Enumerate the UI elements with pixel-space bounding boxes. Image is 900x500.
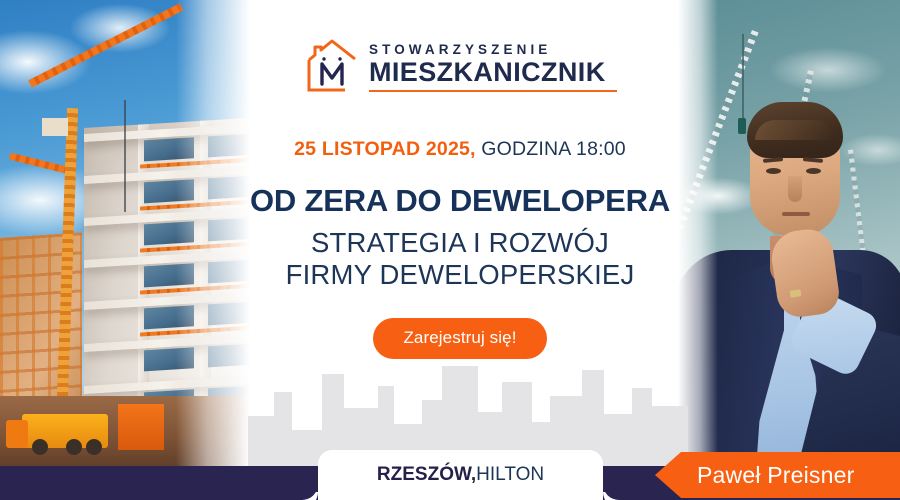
location-city: RZESZÓW,	[377, 464, 476, 486]
event-date-line: 25 LISTOPAD 2025, GODZINA 18:00	[294, 138, 626, 161]
mouth	[782, 212, 810, 216]
brand-logo-text: STOWARZYSZENIE MIESZKANICZNIK	[369, 43, 617, 94]
brand-underline	[369, 90, 617, 93]
subtitle-line-1: STRATEGIA I ROZWÓJ	[311, 227, 609, 258]
crane-cable	[124, 100, 126, 212]
speaker-portrait-photo	[678, 0, 900, 470]
subtitle-line-2: FIRMY DEWELOPERSKIEJ	[286, 259, 635, 290]
left-photo-fade	[176, 0, 250, 470]
crane-hook-block	[738, 118, 746, 134]
site-container	[118, 404, 164, 450]
brand-top-line: STOWARZYSZENIE	[369, 43, 617, 57]
brand-logo: STOWARZYSZENIE MIESZKANICZNIK	[303, 38, 617, 94]
location-venue: HILTON	[476, 464, 544, 486]
event-date: 25 LISTOPAD 2025,	[294, 138, 476, 160]
eye-right	[806, 168, 821, 174]
register-button[interactable]: Zarejestruj się!	[373, 318, 546, 359]
brand-main-line: MIESZKANICZNIK	[369, 58, 617, 86]
event-banner: STOWARZYSZENIE MIESZKANICZNIK 25 LISTOPA…	[0, 0, 900, 500]
crane-cab	[42, 118, 68, 136]
hair	[747, 102, 843, 158]
house-m-logo-icon	[303, 38, 363, 94]
speaker-name: Paweł Preisner	[697, 462, 854, 489]
page-subtitle: STRATEGIA I ROZWÓJ FIRMY DEWELOPERSKIEJ	[286, 227, 635, 292]
nose	[788, 176, 802, 202]
page-title: OD ZERA DO DEWELOPERA	[250, 183, 670, 219]
construction-truck	[22, 414, 108, 448]
center-content: STOWARZYSZENIE MIESZKANICZNIK 25 LISTOPA…	[250, 0, 670, 470]
location-badge: RZESZÓW, HILTON	[318, 450, 603, 500]
speaker-name-banner: Paweł Preisner	[655, 452, 900, 498]
construction-site-photo	[0, 0, 250, 470]
event-time: GODZINA 18:00	[476, 138, 626, 160]
eye-left	[766, 168, 781, 174]
crane-hook-line	[742, 34, 744, 122]
